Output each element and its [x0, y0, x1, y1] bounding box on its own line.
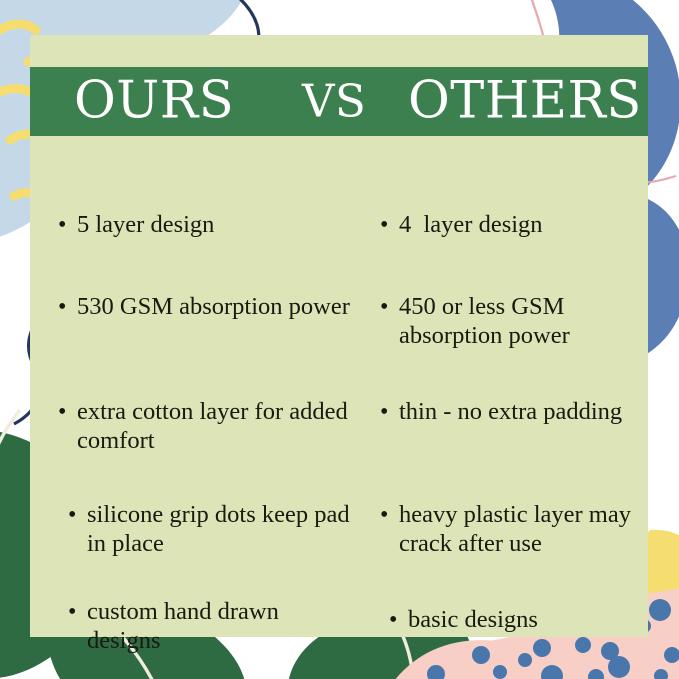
list-item-label: silicone grip dots keep pad in place — [87, 501, 353, 558]
list-item: • 4 layer design — [380, 211, 650, 240]
header-title-vs: VS — [302, 78, 366, 123]
bullet-dot-icon: • — [380, 501, 399, 529]
column-ours: • 5 layer design • 530 GSM absorption po… — [30, 136, 339, 637]
bullet-dot-icon: • — [68, 501, 87, 529]
bullet-dot-icon: • — [380, 293, 399, 321]
bullet-dot-icon: • — [380, 398, 399, 426]
list-item: • 5 layer design — [58, 211, 348, 240]
list-item-label: thin - no extra padding — [399, 398, 650, 427]
bullet-dot-icon: • — [380, 211, 399, 239]
list-item-label: 4 layer design — [399, 211, 650, 240]
list-item-label: basic designs — [408, 606, 659, 635]
bullet-dot-icon: • — [58, 398, 77, 426]
list-item: • thin - no extra padding — [380, 398, 650, 427]
list-item: • extra cotton layer for added comfort — [58, 398, 348, 455]
list-item-label: heavy plastic layer may crack after use — [399, 501, 655, 558]
list-item: • basic designs — [389, 606, 659, 635]
bullet-dot-icon: • — [389, 606, 408, 634]
list-item: • custom hand drawn designs — [68, 598, 353, 655]
list-item-label: 5 layer design — [77, 211, 348, 240]
bullet-dot-icon: • — [58, 293, 77, 321]
comparison-columns: • 5 layer design • 530 GSM absorption po… — [30, 136, 648, 637]
list-item-label: custom hand drawn designs — [87, 598, 353, 655]
list-item: • silicone grip dots keep pad in place — [68, 501, 353, 558]
list-item-label: extra cotton layer for added comfort — [77, 398, 348, 455]
header-title-others: OTHERS — [408, 75, 642, 126]
bullet-dot-icon: • — [68, 598, 87, 626]
list-item: • heavy plastic layer may crack after us… — [380, 501, 655, 558]
list-item: • 530 GSM absorption power — [58, 293, 350, 322]
bullet-dot-icon: • — [58, 211, 77, 239]
list-item-label: 450 or less GSM absorption power — [399, 293, 642, 350]
infographic-canvas: OURS VS OTHERS • 5 layer design • 530 GS… — [0, 0, 679, 679]
list-item-label: 530 GSM absorption power — [77, 293, 350, 322]
header-title-ours: OURS — [74, 75, 234, 126]
comparison-card: OURS VS OTHERS • 5 layer design • 530 GS… — [30, 35, 648, 637]
list-item: • 450 or less GSM absorption power — [380, 293, 642, 350]
column-others: • 4 layer design • 450 or less GSM absor… — [339, 136, 648, 637]
comparison-header-bar: OURS VS OTHERS — [30, 67, 648, 136]
